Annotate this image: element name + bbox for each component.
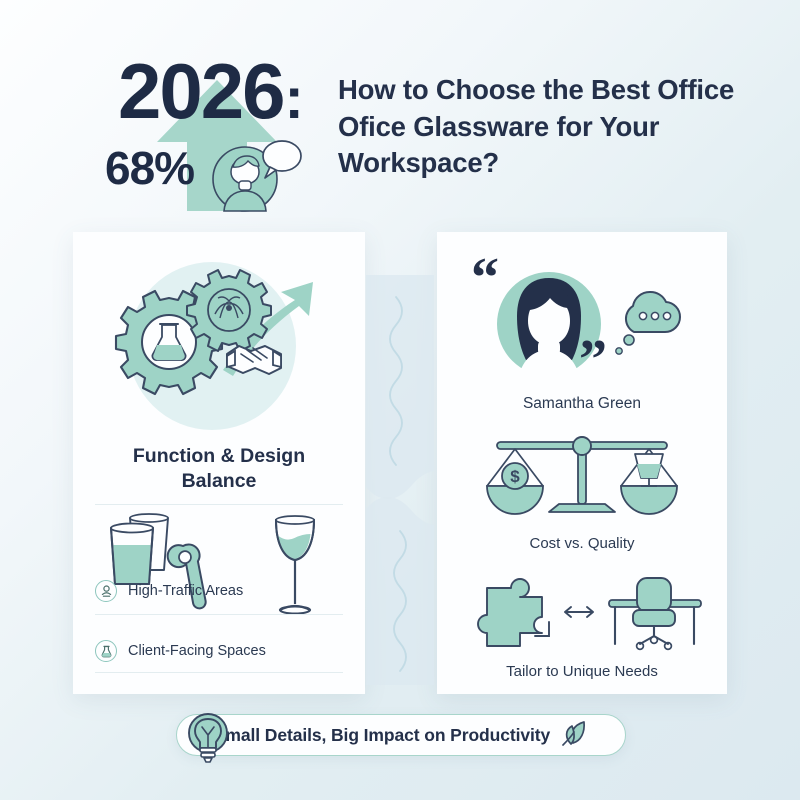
header: 2026 : 68% How to Choose the Best Office… [0, 0, 800, 225]
persona-block: “ ” Samantha Green [437, 246, 727, 413]
divider [95, 672, 343, 673]
svg-text:“: “ [471, 247, 499, 309]
svg-text:$: $ [510, 467, 520, 486]
divider [95, 504, 343, 505]
block-label: Tailor to Unique Needs [437, 663, 727, 680]
list-item[interactable]: Client-Facing Spaces [95, 640, 266, 662]
tailor-needs-block: Tailor to Unique Needs [437, 564, 727, 680]
footer-text: Small Details, Big Impact on Productivit… [214, 725, 550, 746]
list-item-label: High-Traffic Areas [128, 583, 243, 599]
persona-name: Samantha Green [437, 395, 727, 413]
card-function-design[interactable]: Function & Design Balance [73, 232, 365, 694]
cost-quality-block: $ Cost vs. Quality [437, 428, 727, 552]
glassware-illustrations [73, 512, 365, 627]
flask-icon [95, 640, 117, 662]
percent-value: 68% [105, 145, 194, 191]
list-item-label: Client-Facing Spaces [128, 643, 266, 659]
divider [95, 614, 343, 615]
year-value: 2026 [118, 52, 284, 130]
lightbulb-icon [184, 711, 232, 765]
leaf-icon [560, 720, 588, 751]
person-speech-bubble-icon [212, 137, 304, 215]
gears-flask-handshake-icon [73, 250, 365, 440]
year-block: 2026 : [118, 52, 304, 130]
left-card-title: Function & Design Balance [93, 444, 345, 494]
person-stamp-icon [95, 580, 117, 602]
decorative-connector [352, 275, 448, 685]
page-title: How to Choose the Best Office Ofice Glas… [338, 72, 738, 182]
block-label: Cost vs. Quality [437, 535, 727, 552]
svg-text:”: ” [579, 329, 607, 391]
footer-banner[interactable]: Small Details, Big Impact on Productivit… [176, 714, 626, 756]
year-colon: : [285, 70, 304, 128]
list-item[interactable]: High-Traffic Areas [95, 580, 243, 602]
card-persona-insights[interactable]: “ ” Samantha Green $ [437, 232, 727, 694]
